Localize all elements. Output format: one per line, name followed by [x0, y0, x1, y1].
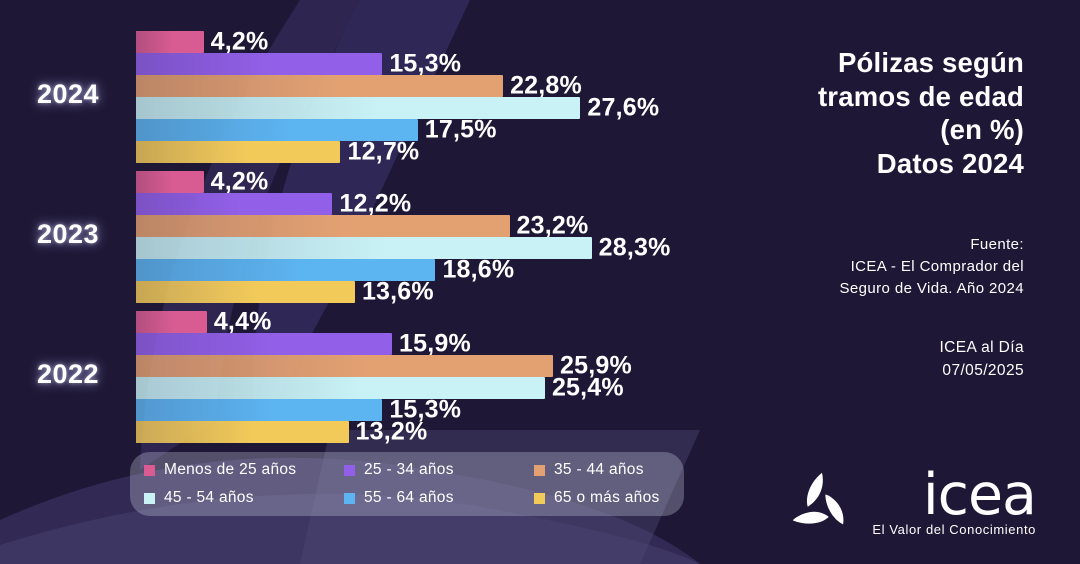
icea-trefoil-logo-icon: [790, 470, 858, 538]
publication-info: ICEA al Día 07/05/2025: [760, 337, 1024, 382]
logo-text: icea El Valor del Conocimiento: [872, 471, 1036, 537]
year-axis-label: 2024: [8, 79, 128, 110]
bar-menos-de-25-a-os[interactable]: [136, 171, 204, 193]
bar-value-label: 25,4%: [552, 374, 624, 403]
legend-swatch-icon: [344, 465, 355, 476]
source-line-2: Seguro de Vida. Año 2024: [760, 278, 1024, 300]
bar-45-54-a-os[interactable]: [136, 237, 592, 259]
legend-swatch-icon: [534, 465, 545, 476]
legend-swatch-icon: [344, 493, 355, 504]
bar-45-54-a-os[interactable]: [136, 97, 580, 119]
logo-tagline: El Valor del Conocimiento: [872, 522, 1036, 537]
bar-35-44-a-os[interactable]: [136, 355, 553, 377]
icea-logo: icea El Valor del Conocimiento: [790, 470, 1036, 538]
bar-value-label: 17,5%: [425, 116, 497, 145]
bar-value-label: 13,6%: [362, 278, 434, 307]
legend-item[interactable]: 35 - 44 años: [534, 461, 698, 479]
bar-value-label: 13,2%: [356, 418, 428, 447]
bar-value-label: 27,6%: [587, 94, 659, 123]
legend-item[interactable]: 55 - 64 años: [344, 489, 534, 507]
bar-25-34-a-os[interactable]: [136, 53, 382, 75]
title-line-4: Datos 2024: [760, 147, 1024, 181]
legend-label: 45 - 54 años: [164, 489, 254, 507]
legend-label: 35 - 44 años: [554, 461, 644, 479]
legend-item[interactable]: 45 - 54 años: [144, 489, 344, 507]
year-axis-label: 2022: [8, 359, 128, 390]
bar-65-o-m-s-a-os[interactable]: [136, 141, 340, 163]
bar-45-54-a-os[interactable]: [136, 377, 545, 399]
legend-label: 25 - 34 años: [364, 461, 454, 479]
bar-65-o-m-s-a-os[interactable]: [136, 281, 355, 303]
bar-35-44-a-os[interactable]: [136, 75, 503, 97]
source-label: Fuente:: [760, 234, 1024, 256]
legend-swatch-icon: [534, 493, 545, 504]
bar-65-o-m-s-a-os[interactable]: [136, 421, 349, 443]
bar-35-44-a-os[interactable]: [136, 215, 510, 237]
legend-swatch-icon: [144, 493, 155, 504]
legend-item[interactable]: 65 o más años: [534, 489, 698, 507]
title-line-3: (en %): [760, 113, 1024, 147]
chart-legend: Menos de 25 años25 - 34 años35 - 44 años…: [130, 452, 684, 516]
bar-value-label: 28,3%: [599, 234, 671, 263]
legend-item[interactable]: 25 - 34 años: [344, 461, 534, 479]
title-line-2: tramos de edad: [760, 80, 1024, 114]
legend-label: Menos de 25 años: [164, 461, 296, 479]
bar-menos-de-25-a-os[interactable]: [136, 31, 204, 53]
year-axis-label: 2023: [8, 219, 128, 250]
logo-wordmark: icea: [923, 471, 1036, 520]
legend-label: 55 - 64 años: [364, 489, 454, 507]
legend-swatch-icon: [144, 465, 155, 476]
publication-date: 07/05/2025: [760, 360, 1024, 382]
source-line-1: ICEA - El Comprador del: [760, 256, 1024, 278]
bar-value-label: 12,7%: [347, 138, 419, 167]
legend-item[interactable]: Menos de 25 años: [144, 461, 344, 479]
bar-25-34-a-os[interactable]: [136, 193, 332, 215]
bar-55-64-a-os[interactable]: [136, 399, 382, 421]
legend-label: 65 o más años: [554, 489, 660, 507]
page-title: Pólizas según tramos de edad (en %) Dato…: [760, 46, 1024, 180]
publication-name: ICEA al Día: [760, 337, 1024, 359]
source-citation: Fuente: ICEA - El Comprador del Seguro d…: [760, 234, 1024, 299]
bar-menos-de-25-a-os[interactable]: [136, 311, 207, 333]
bar-value-label: 18,6%: [442, 256, 514, 285]
bar-chart: 20244,2%15,3%22,8%27,6%17,5%12,7%20234,2…: [0, 0, 700, 450]
title-line-1: Pólizas según: [760, 46, 1024, 80]
bar-25-34-a-os[interactable]: [136, 333, 392, 355]
